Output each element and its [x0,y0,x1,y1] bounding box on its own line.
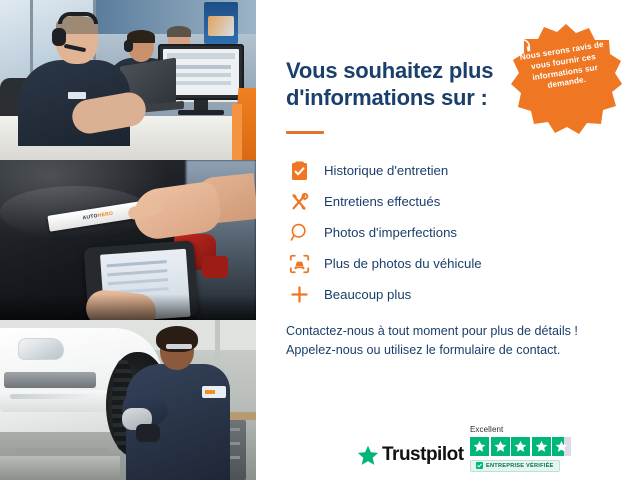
trustpilot-logo: Trustpilot [357,444,464,466]
rating-star [532,437,551,456]
title-divider [286,131,324,134]
agent-one-name-badge-decor [68,92,86,99]
car-grille-decor [4,372,96,388]
headset-icon [511,35,534,58]
car-headlight-decor [18,338,64,360]
trustpilot-star-row [470,437,582,456]
list-item: Plus de photos du véhicule [286,248,546,279]
trustpilot-rating: Excellent ENTREPRISE VÉRIFIÉE [470,425,582,475]
agent-one-headset-band-decor [58,12,98,24]
list-item: Historique d'entretien [286,155,546,186]
promo-card: AUTOHERO [0,0,640,480]
orange-stand-two-decor [232,104,242,160]
magnifier-icon [286,221,312,245]
page-title-line-two: d'informations sur : [286,85,488,110]
verified-business-badge: ENTREPRISE VÉRIFIÉE [470,460,560,472]
rating-star [511,437,530,456]
call-center-agents-photo [0,0,256,160]
lift-arm-decor [16,448,108,456]
page-title: Vous souhaitez plus d'informations sur : [286,58,514,112]
trustpilot-star-icon [357,445,379,466]
agent-one-headset-cup-decor [52,28,66,46]
list-item-label: Entretiens effectués [324,194,440,209]
list-item-label: Plus de photos du véhicule [324,256,482,271]
verified-business-label: ENTREPRISE VÉRIFIÉE [486,463,554,469]
contact-text-line-two: Appelez-nous ou utilisez le formulaire d… [286,343,560,357]
agent-two-headset-decor [124,40,133,52]
list-item: Photos d'imperfections [286,217,546,248]
trustpilot-rating-label: Excellent [470,425,582,434]
list-item: Beaucoup plus [286,279,546,310]
car-chrome-trim-decor [10,394,94,399]
verified-check-icon [476,462,483,469]
lower-shadow-decor [0,294,256,320]
mechanic-wheel-inspection-photo [0,320,256,480]
mechanic-glove-two-decor [136,424,160,442]
badge-content: Nous serons ravis de vous fournir ces in… [511,23,621,133]
list-item: Entretiens effectués [286,186,546,217]
rating-star-partial [552,437,571,456]
ruler-brand-part-two: HERO [97,211,113,219]
clipboard-check-icon [286,159,312,183]
contact-text: Contactez-nous à tout moment pour plus d… [286,322,616,360]
mechanic-uniform-badge-decor [202,386,226,398]
list-item-label: Photos d'imperfections [324,225,457,240]
car-scan-icon [286,252,312,276]
plus-icon [286,283,312,307]
page-title-line-one: Vous souhaitez plus [286,58,493,83]
photo-strip: AUTOHERO [0,0,256,480]
trustpilot-wordmark: Trustpilot [382,444,464,466]
list-item-label: Historique d'entretien [324,163,448,178]
tools-icon [286,190,312,214]
contact-text-line-one: Contactez-nous à tout moment pour plus d… [286,324,578,338]
feature-list: Historique d'entretien Entret [286,155,546,310]
content-panel: Vous souhaitez plus d'informations sur :… [256,0,640,480]
rating-star [470,437,489,456]
wall-poster-decor [204,2,238,44]
monitor-base-decor [178,110,224,115]
list-item-label: Beaucoup plus [324,287,411,302]
autohero-ruler-inspection-photo: AUTOHERO [0,160,256,320]
rating-star [491,437,510,456]
tail-light-lower-decor [202,256,228,278]
vehicle-lift-decor [0,456,120,480]
on-request-badge: Nous serons ravis de vous fournir ces in… [510,22,622,134]
mechanic-glasses-decor [166,344,192,349]
ruler-brand-part-one: AUTO [82,213,98,221]
agent-three-hair-decor [167,26,191,37]
